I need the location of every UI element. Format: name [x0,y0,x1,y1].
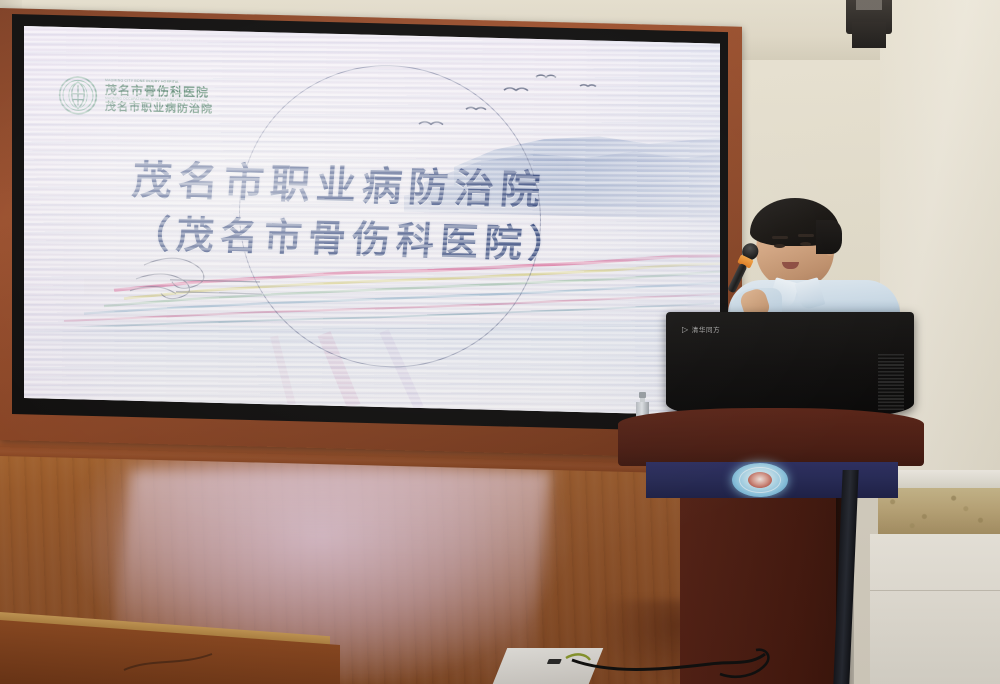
presenter-hair [750,198,840,246]
led-screen-display[interactable]: MAOMING CITY BONE INJURY HOSPITAL 茂名市骨伤科… [24,26,720,416]
hospital-logo: MAOMING CITY BONE INJURY HOSPITAL 茂名市骨伤科… [58,75,213,119]
podium-circular-emblem [732,463,788,497]
podium-emblem-center [748,472,772,488]
floor-cables-left [120,640,240,684]
presenter-eye-left [774,244,785,248]
podium-desktop [618,408,924,466]
monitor-brand-logo: ▷ 清华同方 [682,324,720,334]
wall-mounted-speaker-icon [846,0,892,34]
monitor-vent-grille [878,354,904,410]
monitor-brand-glyph: ▷ [682,325,689,334]
floor-cables [560,640,780,684]
logo-chinese-line-2: 茂名市职业病防治院 [105,102,213,116]
computer-monitor[interactable]: ▷ 清华同方 [666,312,914,418]
presenter-brow-left [772,236,788,239]
presenter [720,196,904,326]
hospital-emblem-icon [58,75,98,116]
tile-floor [870,534,1000,684]
monitor-brand-label: 清华同方 [692,324,720,334]
presenter-eye-right [800,242,811,246]
presenter-brow-right [798,234,814,237]
wall-baseboard [880,470,1000,488]
screen-title: 茂名市职业病防治院 （茂名市骨伤科医院） [132,157,602,270]
screenshot-root: MAOMING CITY BONE INJURY HOSPITAL 茂名市骨伤科… [0,0,1000,684]
